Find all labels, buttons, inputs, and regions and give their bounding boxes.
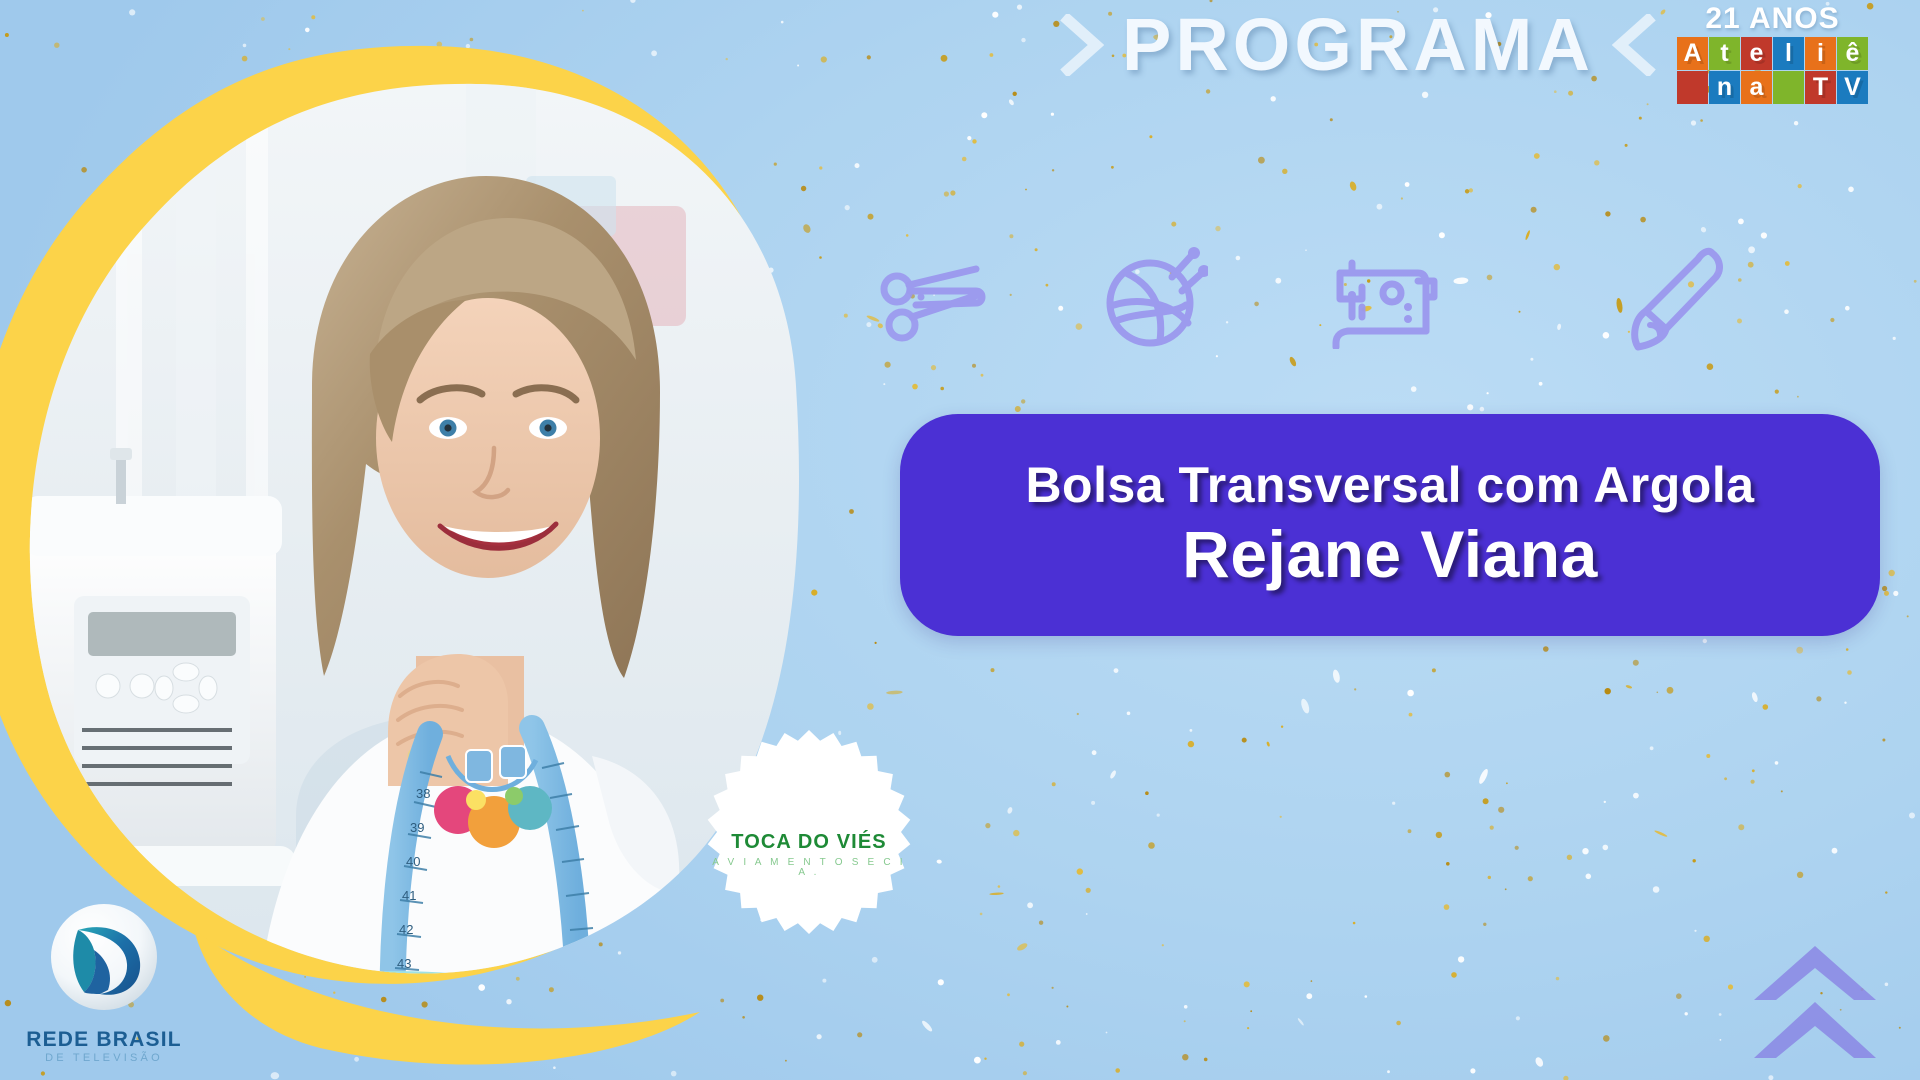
episode-banner: Bolsa Transversal com Argola Rejane Vian… [900, 414, 1880, 636]
logo-tile-i: i [1805, 37, 1836, 70]
anniversary-logo[interactable]: 21 ANOS Ateliê naTV [1677, 4, 1868, 104]
logo-tile-blank-0 [1677, 71, 1708, 104]
craft-icon-strip [880, 245, 1900, 355]
badge-starburst-shape [705, 728, 913, 936]
chevron-right-icon [1060, 14, 1104, 76]
svg-text:40: 40 [406, 854, 420, 869]
logo-tile-v: V [1837, 71, 1868, 104]
double-chevron-up-icon [1742, 938, 1888, 1066]
logo-tile-e: e [1741, 37, 1772, 70]
svg-text:43: 43 [397, 956, 411, 971]
logo-tile-blank-3 [1773, 71, 1804, 104]
sponsor-badge[interactable]: TOCA DO VIÉS A V I A M E N T O S E C I A… [705, 728, 913, 936]
network-name: REDE BRASIL [14, 1029, 194, 1050]
logo-tile-t: T [1805, 71, 1836, 104]
logo-tiles-row1: Ateliê [1677, 37, 1868, 70]
sewing-machine-icon [1330, 251, 1448, 349]
logo-tile-n: n [1709, 71, 1740, 104]
poster-canvas: 3839 4041 4243 [0, 0, 1920, 1080]
logo-tile-ê: ê [1837, 37, 1868, 70]
sewing-machine-photo [6, 448, 296, 886]
play-button-sphere-icon [14, 900, 194, 1020]
scissors-icon [880, 255, 990, 345]
chevron-left-icon [1612, 14, 1656, 76]
network-logo[interactable]: REDE BRASIL DE TELEVISÃO [14, 900, 194, 1064]
svg-text:41: 41 [402, 888, 416, 903]
svg-text:42: 42 [399, 922, 413, 937]
logo-tile-t: t [1709, 37, 1740, 70]
years-label: 21 ANOS [1677, 4, 1868, 34]
episode-title: Bolsa Transversal com Argola [1025, 459, 1754, 512]
paintbrush-icon [1620, 245, 1730, 355]
svg-text:39: 39 [410, 820, 424, 835]
logo-tile-a: A [1677, 37, 1708, 70]
yarn-ball-icon [1100, 245, 1208, 353]
network-subtitle: DE TELEVISÃO [14, 1053, 194, 1064]
logo-tile-a: a [1741, 71, 1772, 104]
logo-tile-l: l [1773, 37, 1804, 70]
presenter-name: Rejane Viana [1182, 518, 1598, 591]
program-title-group: PROGRAMA [1060, 8, 1656, 82]
svg-text:38: 38 [416, 786, 430, 801]
logo-tiles-row2: naTV [1677, 71, 1868, 104]
page-title: PROGRAMA [1122, 8, 1594, 82]
